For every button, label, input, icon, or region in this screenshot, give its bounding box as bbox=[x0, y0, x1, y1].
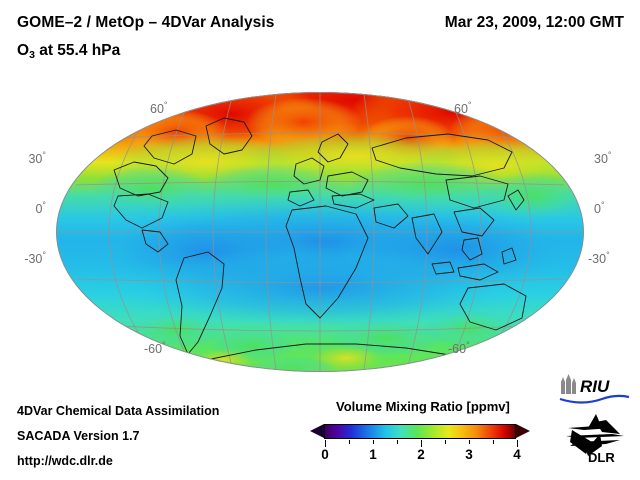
lat-label-right-0: 0° bbox=[594, 200, 605, 216]
colorbar-title: Volume Mixing Ratio [ppmv] bbox=[336, 399, 510, 414]
map-container: 0° 30° -30° 60° -60° 0° 30° -30° 60° -60… bbox=[56, 92, 584, 372]
colorbar-extend-min-arrow bbox=[310, 424, 324, 438]
lat-label-right-m60: -60° bbox=[448, 340, 470, 356]
lat-label-left-30: 30° bbox=[0, 150, 46, 166]
riu-logo: RIU bbox=[556, 374, 632, 404]
lat-label-left-60: 60° bbox=[150, 100, 168, 116]
colorbar-tick-0: 0 bbox=[321, 447, 329, 462]
colorbar-tick-4: 4 bbox=[513, 447, 521, 462]
colorbar-tick-2: 2 bbox=[417, 447, 425, 462]
dlr-logo-text: DLR bbox=[588, 450, 615, 464]
timestamp-label: Mar 23, 2009, 12:00 GMT bbox=[445, 14, 624, 32]
mollweide-projection-map bbox=[56, 92, 584, 372]
visualization-page: GOME–2 / MetOp – 4DVar Analysis O3 at 55… bbox=[0, 0, 640, 480]
colorbar-tick-3: 3 bbox=[465, 447, 473, 462]
riu-swoosh bbox=[560, 396, 629, 403]
lat-label-left-m30: -30° bbox=[0, 250, 46, 266]
colorbar-gradient bbox=[324, 424, 516, 439]
lat-label-right-m30: -30° bbox=[588, 250, 610, 266]
colorbar-tick-1: 1 bbox=[369, 447, 377, 462]
lat-label-right-60: 60° bbox=[454, 100, 472, 116]
riu-logo-text: RIU bbox=[580, 377, 610, 396]
ozone-field bbox=[56, 92, 584, 372]
pressure-level-label: at 55.4 hPa bbox=[35, 42, 120, 59]
map-canvas bbox=[56, 92, 584, 372]
lat-label-left-0: 0° bbox=[0, 200, 46, 216]
species-label: O bbox=[17, 42, 29, 59]
colorbar-tick-labels: 0 1 2 3 4 bbox=[310, 447, 542, 467]
page-subtitle: O3 at 55.4 hPa bbox=[17, 42, 120, 60]
dlr-logo: DLR bbox=[562, 412, 628, 464]
dlr-logo-graphic: DLR bbox=[562, 412, 628, 464]
species-subscript: 3 bbox=[29, 49, 35, 61]
riu-logo-graphic: RIU bbox=[556, 374, 632, 404]
lat-label-left-m60: -60° bbox=[144, 340, 166, 356]
footer-line-version: SACADA Version 1.7 bbox=[17, 429, 140, 443]
page-title: GOME–2 / MetOp – 4DVar Analysis bbox=[17, 14, 275, 32]
riu-tower-mark bbox=[561, 374, 576, 394]
footer-line-method: 4DVar Chemical Data Assimilation bbox=[17, 404, 219, 418]
footer-line-url[interactable]: http://wdc.dlr.de bbox=[17, 454, 113, 468]
lat-label-right-30: 30° bbox=[594, 150, 612, 166]
colorbar-extend-max-arrow bbox=[516, 424, 530, 438]
